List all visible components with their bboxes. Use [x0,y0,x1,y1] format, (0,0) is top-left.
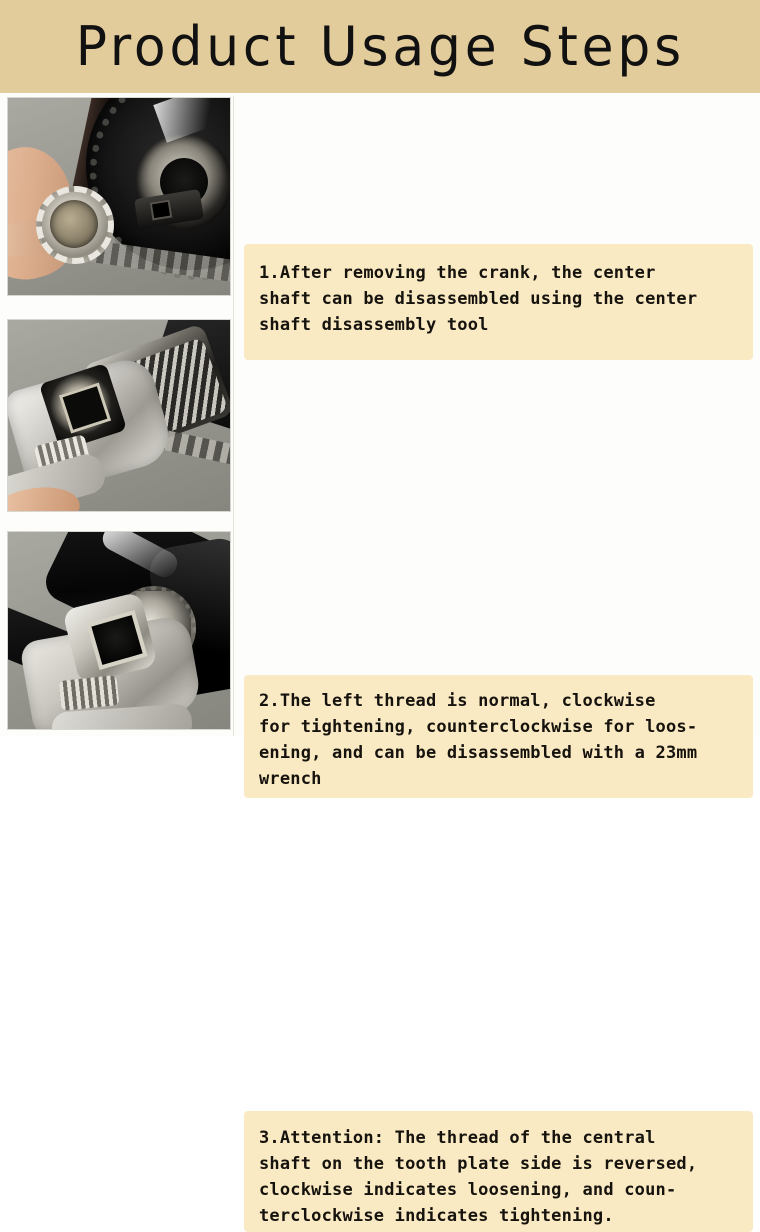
step-3-text: 3.Attention: The thread of the central s… [259,1125,741,1229]
wrench-knurled-screw-shape [59,675,120,711]
bb-tool-bore-shape [50,200,98,248]
spindle-square-taper-shape [150,200,173,221]
step-3-text-card: 3.Attention: The thread of the central s… [244,1111,753,1232]
step-row-2: 2.The left thread is normal, clockwise f… [0,319,760,512]
step-3-photo [7,531,231,730]
page-title: Product Usage Steps [75,20,684,74]
step-row-1: 1.After removing the crank, the center s… [0,97,760,296]
product-usage-steps-page: Product Usage Steps 1. [0,0,760,736]
step-row-3: 3.Attention: The thread of the central s… [0,531,760,730]
step-1-photo [7,97,231,296]
header-band: Product Usage Steps [0,0,760,93]
step-2-photo [7,319,231,512]
